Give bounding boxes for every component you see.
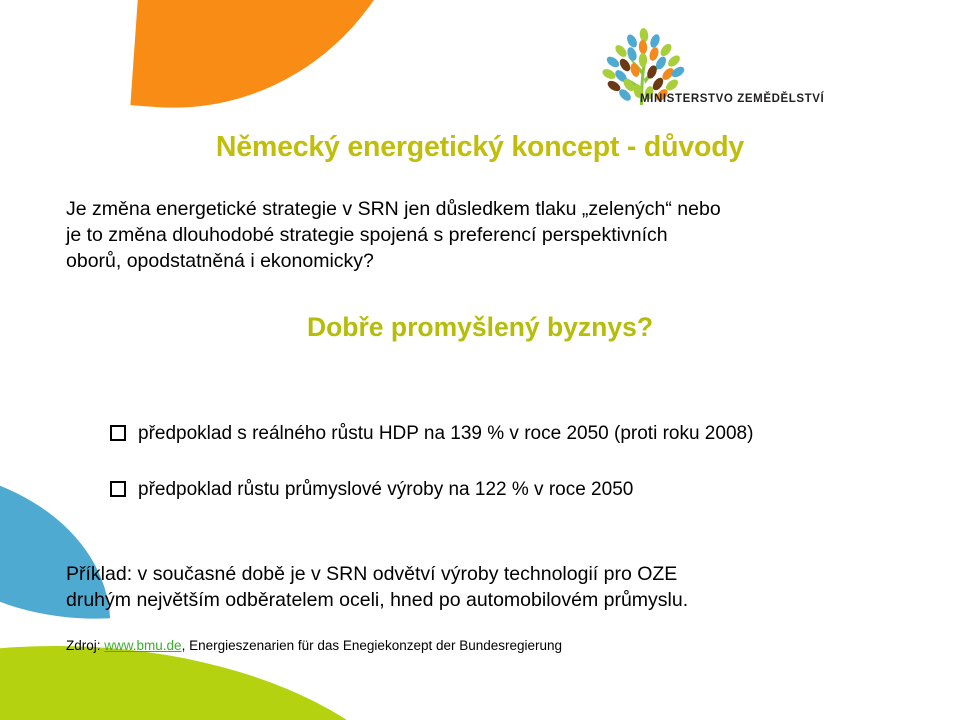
list-item: předpoklad růstu průmyslové výroby na 12…	[108, 477, 898, 503]
source-citation: Zdroj: www.bmu.de, Energieszenarien für …	[66, 638, 906, 653]
slide-canvas: MINISTERSTVO ZEMĚDĚLSTVÍ Německý energet…	[0, 0, 960, 720]
intro-paragraph: Je změna energetické strategie v SRN jen…	[66, 196, 894, 274]
list-item: předpoklad s reálného růstu HDP na 139 %…	[108, 421, 898, 447]
example-line-1: Příklad: v současné době je v SRN odvětv…	[66, 561, 894, 587]
intro-line-2: je to změna dlouhodobé strategie spojená…	[66, 222, 894, 248]
intro-line-1: Je změna energetické strategie v SRN jen…	[66, 196, 894, 222]
square-bullet-icon	[110, 481, 126, 497]
source-prefix: Zdroj:	[66, 638, 104, 653]
example-line-2: druhým největším odběratelem oceli, hned…	[66, 587, 894, 613]
bullet-list: předpoklad s reálného růstu HDP na 139 %…	[108, 421, 898, 533]
page-title: Německý energetický koncept - důvody	[60, 131, 900, 164]
logo-text: MINISTERSTVO ZEMĚDĚLSTVÍ	[640, 93, 824, 105]
ministry-logo: MINISTERSTVO ZEMĚDĚLSTVÍ	[592, 27, 832, 115]
section-subtitle: Dobře promyšlený byznys?	[60, 312, 900, 343]
list-item-label: předpoklad růstu průmyslové výroby na 12…	[138, 479, 633, 500]
source-suffix: , Energieszenarien für das Enegiekonzept…	[182, 638, 563, 653]
list-item-label: předpoklad s reálného růstu HDP na 139 %…	[138, 423, 753, 444]
intro-line-3: oborů, opodstatněná i ekonomicky?	[66, 248, 894, 274]
orange-leaf-decoration	[130, 0, 421, 124]
example-paragraph: Příklad: v současné době je v SRN odvětv…	[66, 561, 894, 614]
source-link[interactable]: www.bmu.de	[104, 638, 181, 653]
square-bullet-icon	[110, 425, 126, 441]
green-arc-decoration	[0, 646, 442, 720]
